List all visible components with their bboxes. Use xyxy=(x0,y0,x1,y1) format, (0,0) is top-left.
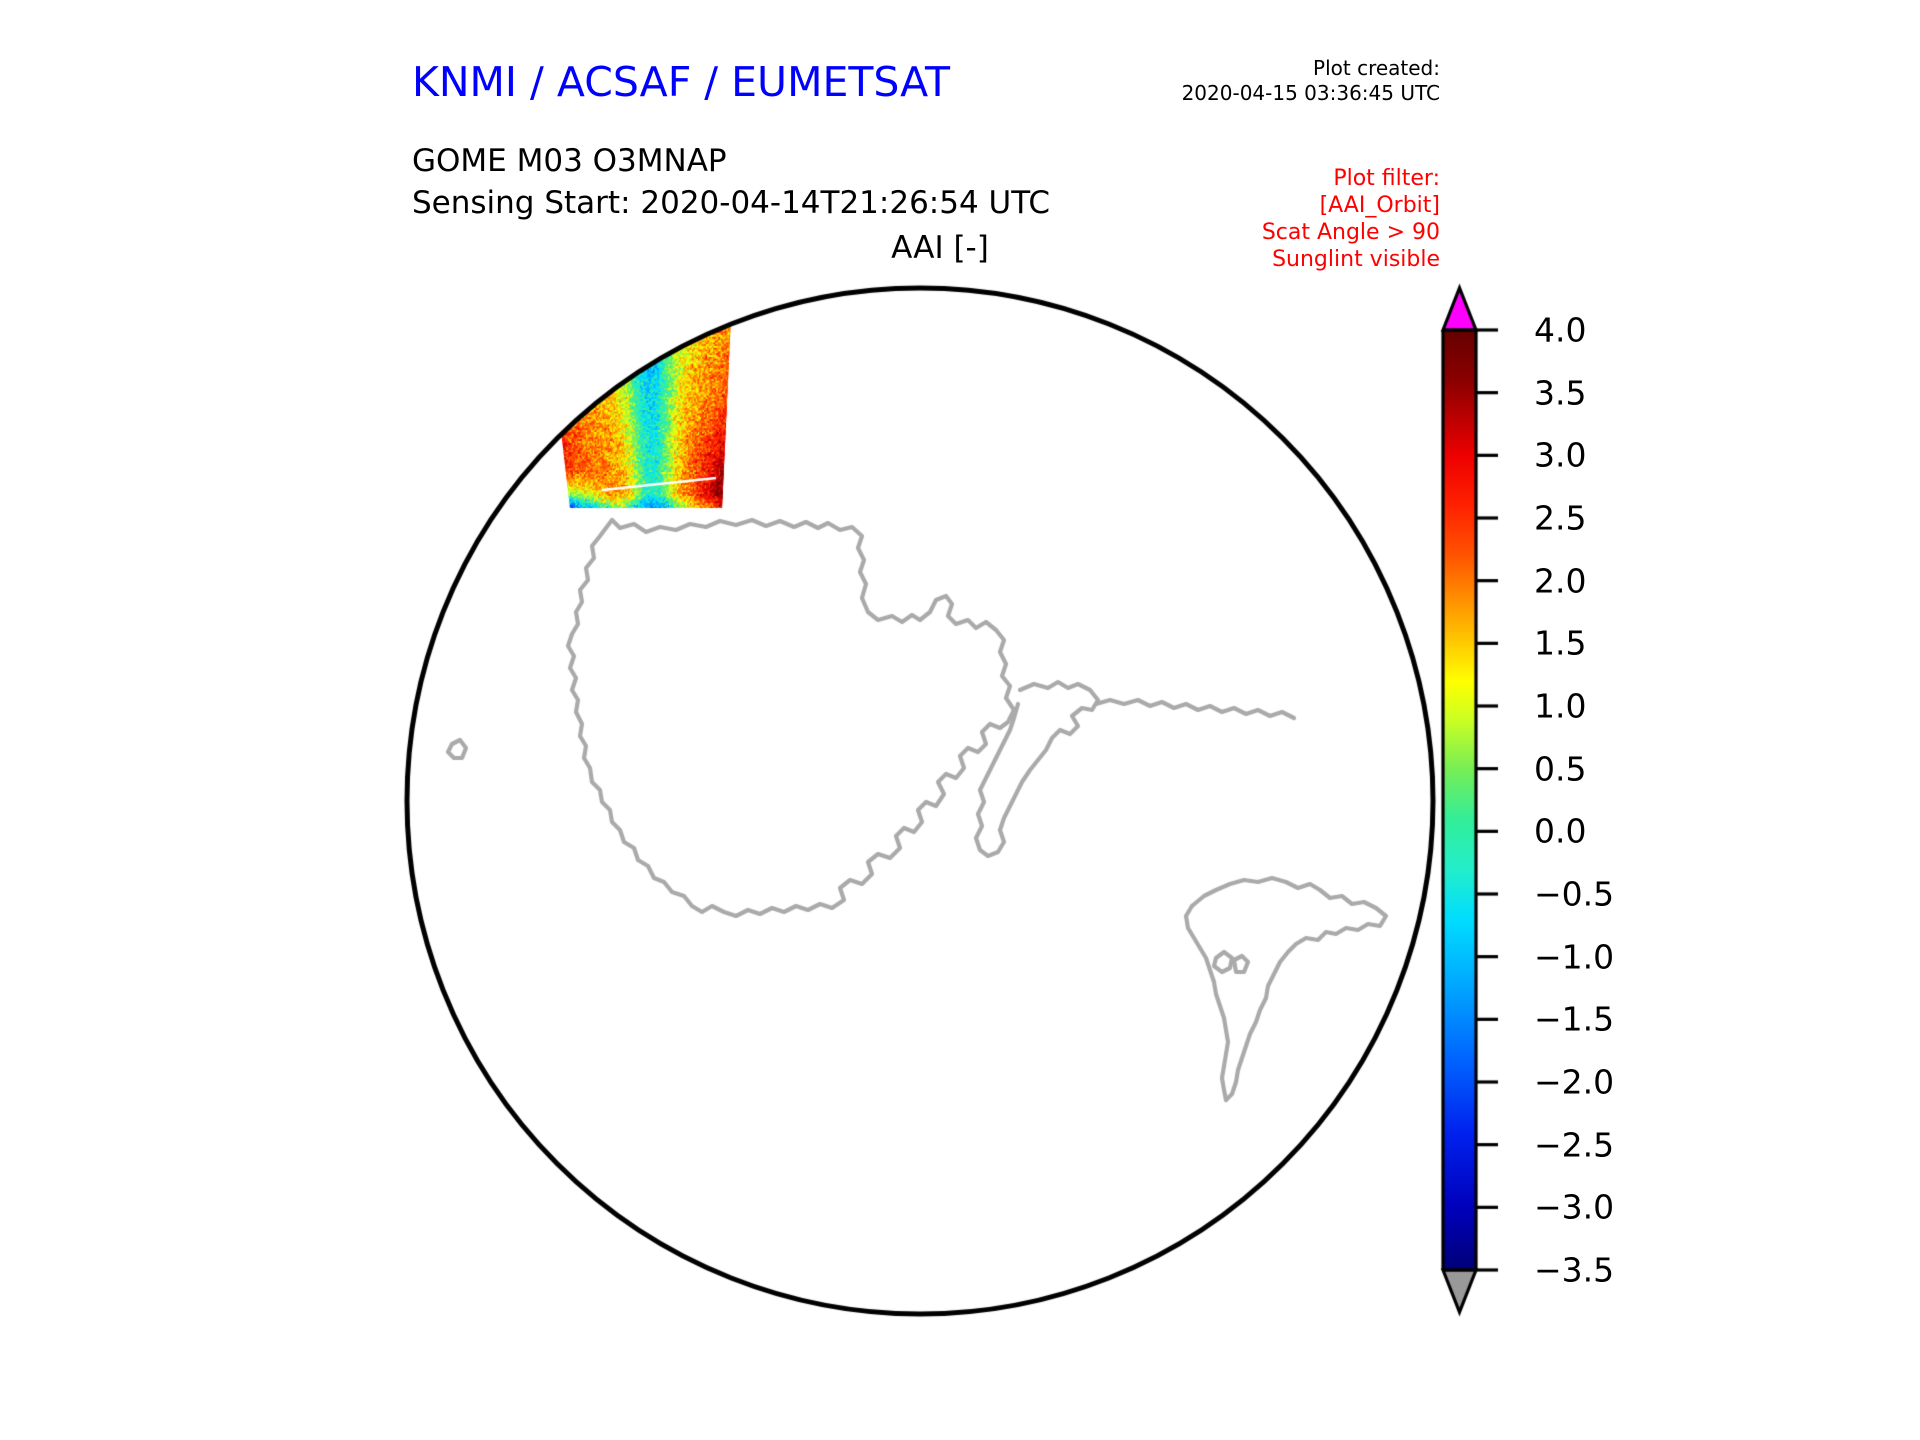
colorbar-tick-11: −1.5 xyxy=(1534,1000,1614,1039)
plot-filter-block: Plot filter: [AAI_Orbit] Scat Angle > 90… xyxy=(1130,165,1440,273)
colorbar-tick-13: −2.5 xyxy=(1534,1125,1614,1164)
colorbar-tick-3: 2.5 xyxy=(1534,499,1586,538)
colorbar-tick-15: −3.5 xyxy=(1534,1251,1614,1290)
polar-map-plot xyxy=(380,260,1470,1350)
colorbar-tick-2: 3.0 xyxy=(1534,436,1586,475)
colorbar-tick-14: −3.0 xyxy=(1534,1188,1614,1227)
plot-filter-orbit: [AAI_Orbit] xyxy=(1130,192,1440,219)
colorbar-tick-12: −2.0 xyxy=(1534,1063,1614,1102)
sensing-start: Sensing Start: 2020-04-14T21:26:54 UTC xyxy=(412,182,1050,224)
colorbar-tick-6: 1.0 xyxy=(1534,687,1586,726)
colorbar-tick-8: 0.0 xyxy=(1534,812,1586,851)
colorbar-tick-4: 2.0 xyxy=(1534,561,1586,600)
dataset-name: GOME M03 O3MNAP xyxy=(412,140,1050,182)
colorbar-gradient xyxy=(1430,280,1550,1320)
colorbar-tick-0: 4.0 xyxy=(1534,311,1586,350)
plot-page: KNMI / ACSAF / EUMETSAT Plot created: 20… xyxy=(0,0,1920,1440)
colorbar-tick-7: 0.5 xyxy=(1534,749,1586,788)
colorbar-tick-1: 3.5 xyxy=(1534,373,1586,412)
colorbar-tick-5: 1.5 xyxy=(1534,624,1586,663)
agency-title: KNMI / ACSAF / EUMETSAT xyxy=(412,58,950,106)
colorbar-tick-10: −1.0 xyxy=(1534,937,1614,976)
colorbar: 4.03.53.02.52.01.51.00.50.0−0.5−1.0−1.5−… xyxy=(1430,280,1760,1320)
dataset-info-block: GOME M03 O3MNAP Sensing Start: 2020-04-1… xyxy=(412,140,1050,224)
plot-created-timestamp: 2020-04-15 03:36:45 UTC xyxy=(1150,81,1440,106)
plot-created-label: Plot created: xyxy=(1150,56,1440,81)
colorbar-tick-9: −0.5 xyxy=(1534,875,1614,914)
plot-created-block: Plot created: 2020-04-15 03:36:45 UTC xyxy=(1150,56,1440,106)
plot-filter-scat-angle: Scat Angle > 90 xyxy=(1130,219,1440,246)
plot-filter-label: Plot filter: xyxy=(1130,165,1440,192)
